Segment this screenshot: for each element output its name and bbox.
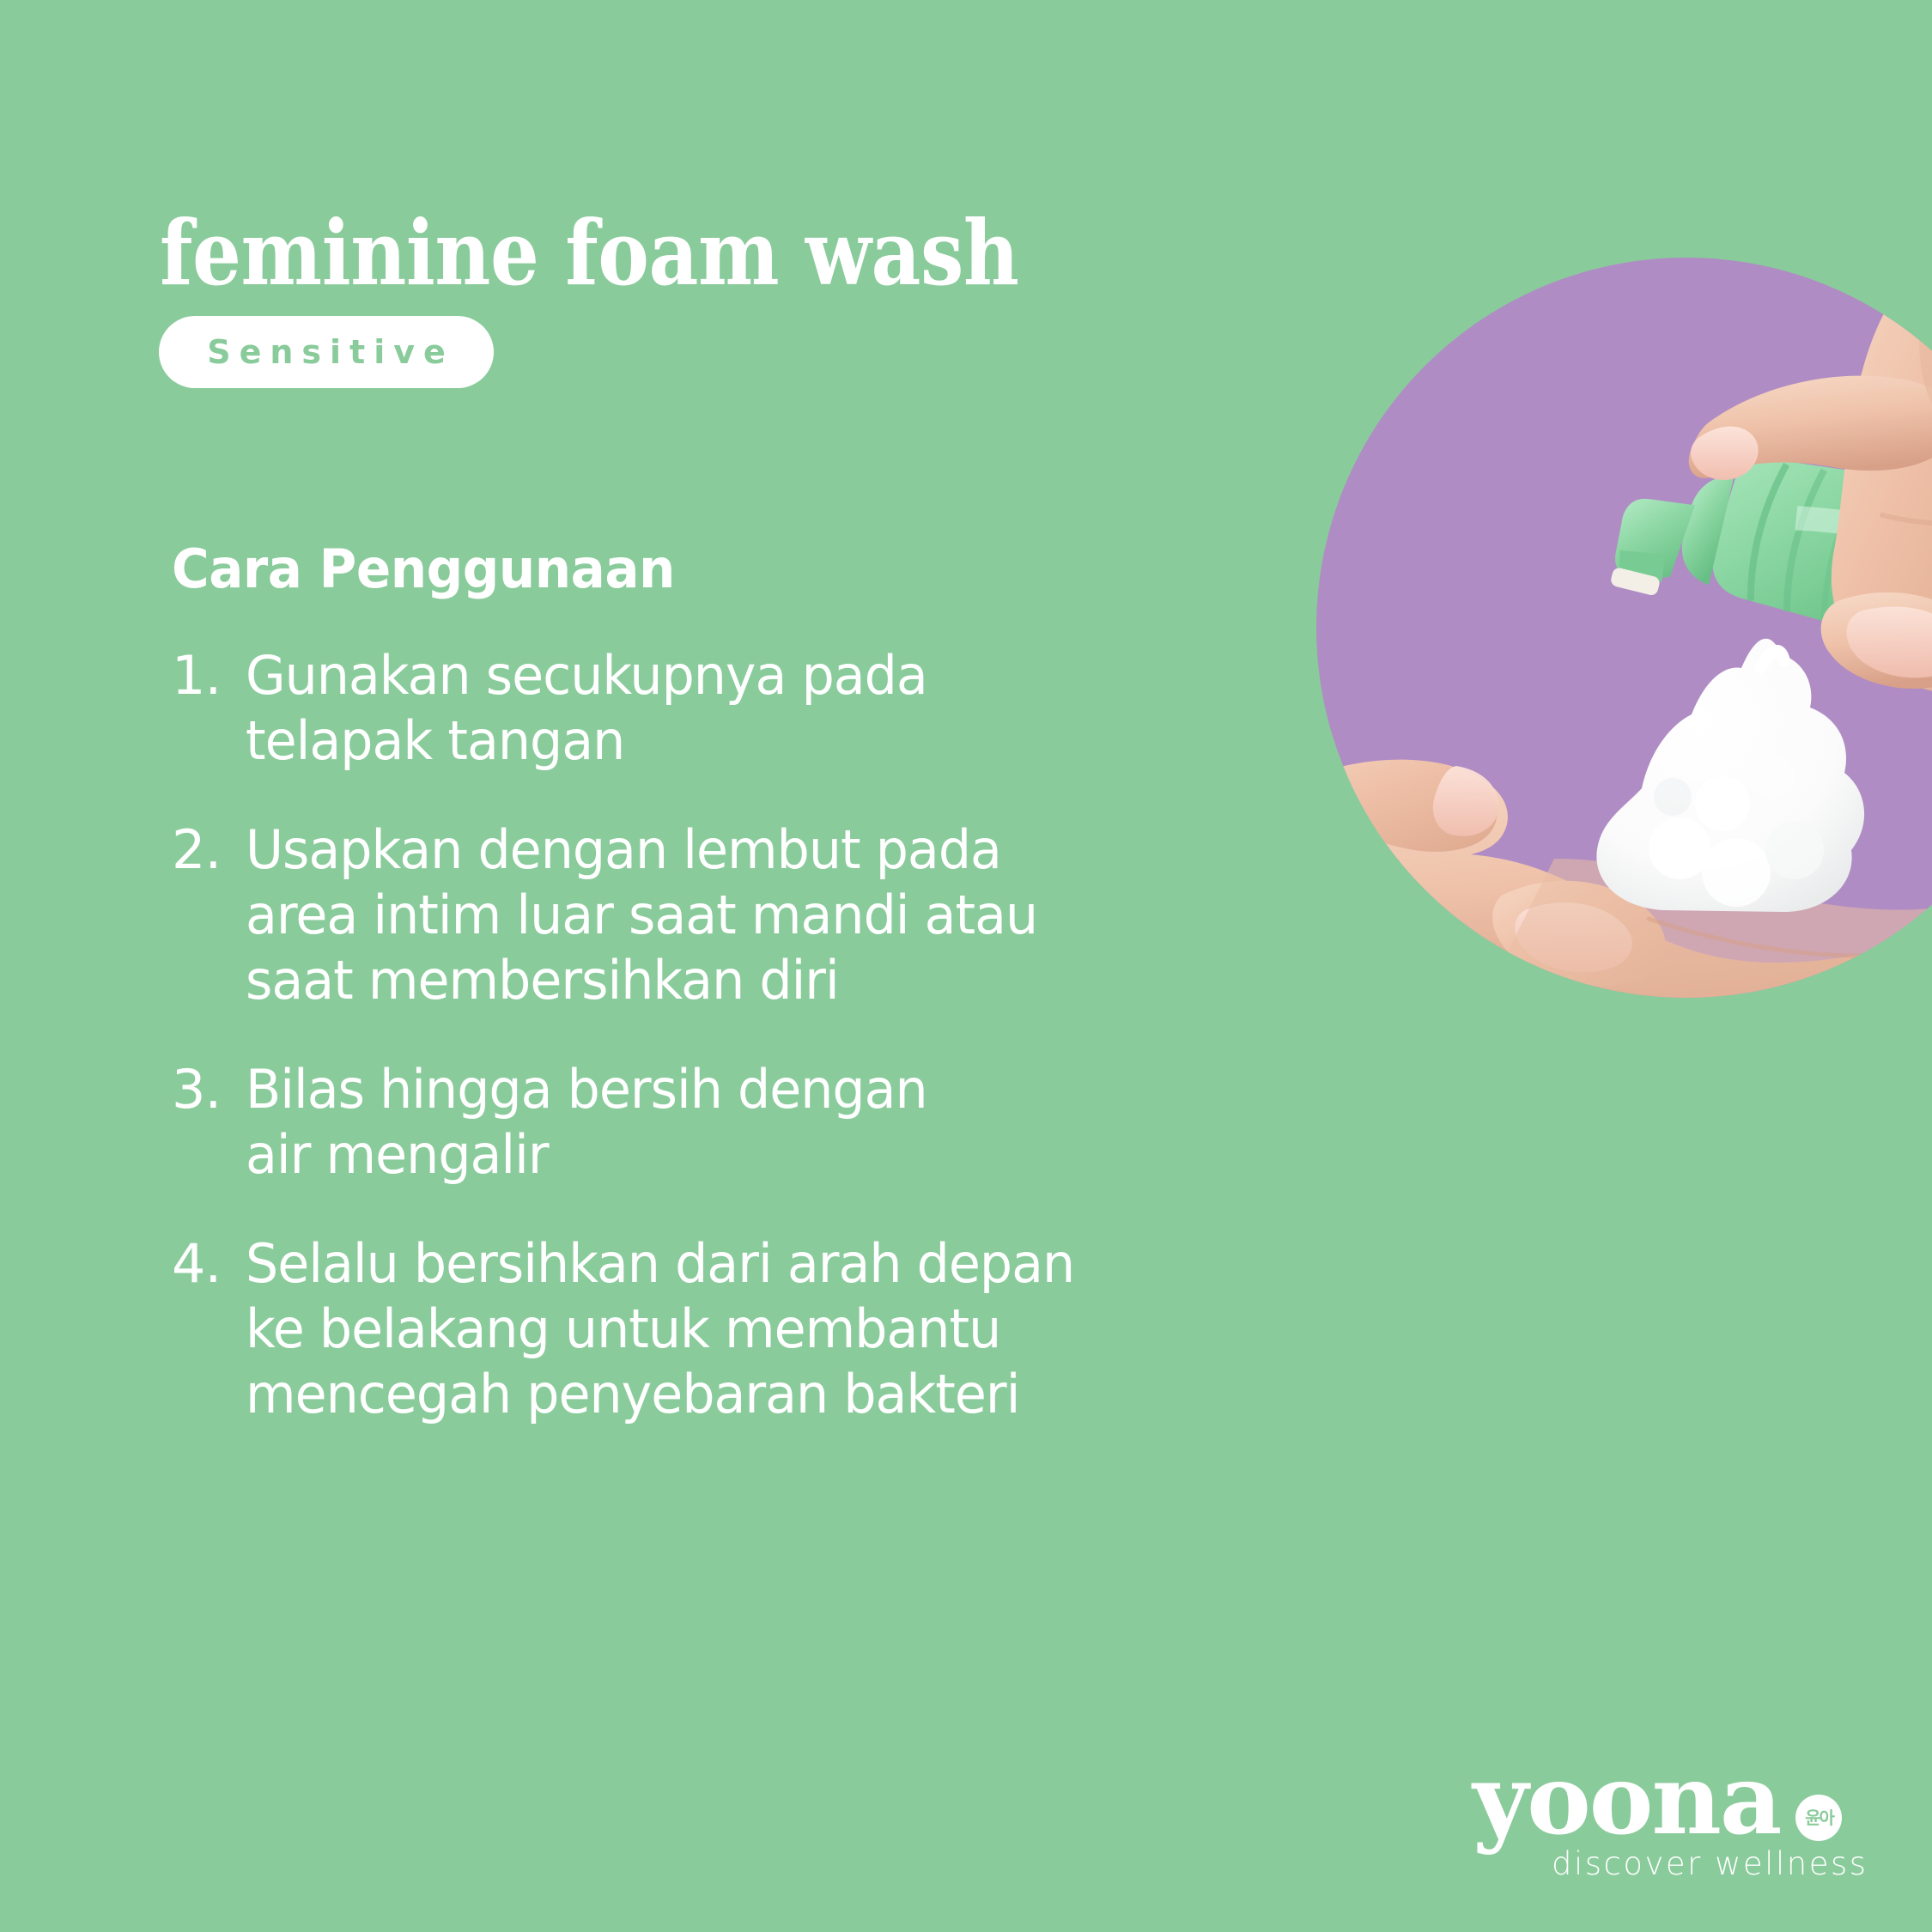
page-title: feminine foam wash: [160, 209, 1019, 298]
list-item: 1. Gunakan secukupnya pada telapak tanga…: [172, 643, 1391, 773]
step-text: Bilas hingga bersih dengan air mengalir: [246, 1057, 1357, 1187]
section-heading: Cara Penggunaan: [172, 541, 1342, 597]
brand-logo: yoona 윤아 discover wellness: [1473, 1756, 1833, 1880]
variant-badge-label: Sensitive: [198, 336, 454, 368]
list-item: 4. Selalu bersihkan dari arah depan ke b…: [172, 1231, 1391, 1426]
brand-wordmark: yoona 윤아: [1473, 1756, 1780, 1844]
step-text: Selalu bersihkan dari arah depan ke bela…: [246, 1231, 1357, 1426]
steps-list: 1. Gunakan secukupnya pada telapak tanga…: [172, 643, 1391, 1426]
step-number: 4.: [172, 1231, 246, 1297]
list-item: 2. Usapkan dengan lembut pada area intim…: [172, 817, 1391, 1012]
step-text: Gunakan secukupnya pada telapak tangan: [246, 643, 1357, 773]
list-item: 3. Bilas hingga bersih dengan air mengal…: [172, 1057, 1391, 1187]
step-text: Usapkan dengan lembut pada area intim lu…: [246, 817, 1357, 1012]
variant-badge: Sensitive: [159, 316, 494, 388]
product-image-circle: [1316, 258, 1932, 998]
instructions-block: Cara Penggunaan 1. Gunakan secukupnya pa…: [172, 541, 1391, 1426]
brand-name: yoona: [1473, 1744, 1780, 1856]
step-number: 1.: [172, 643, 246, 708]
step-number: 2.: [172, 817, 246, 883]
brand-korean-badge-icon: 윤아: [1795, 1795, 1842, 1841]
poster-canvas: feminine foam wash Sensitive Cara Penggu…: [0, 0, 1932, 1932]
step-number: 3.: [172, 1057, 246, 1122]
